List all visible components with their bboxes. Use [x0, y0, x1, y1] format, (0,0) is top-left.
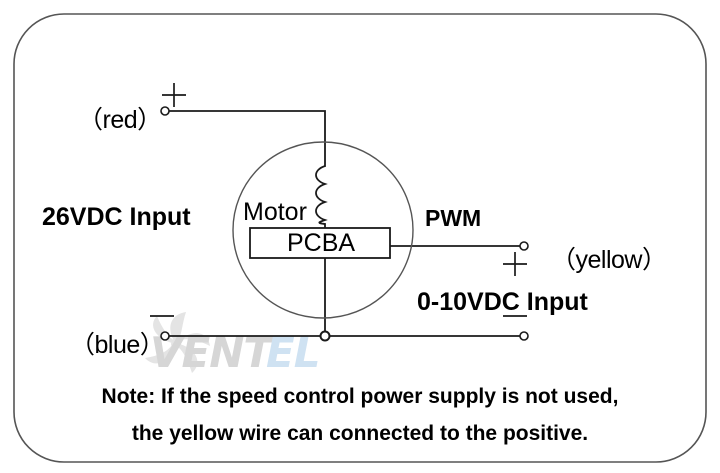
- terminal-red-positive: [161, 107, 169, 115]
- label-motor: Motor: [243, 200, 307, 225]
- terminal-yellow-negative: [520, 332, 528, 340]
- junction-dot: [321, 332, 330, 341]
- label-yellow-wire: （yellow）: [551, 248, 666, 273]
- label-pcba: PCBA: [287, 231, 355, 256]
- motor-coil-symbol: [316, 166, 325, 224]
- label-power-input: 26VDC Input: [42, 205, 191, 230]
- terminal-yellow-positive: [520, 242, 528, 250]
- label-blue-wire: （blue）: [70, 333, 164, 358]
- label-control-input: 0-10VDC Input: [417, 290, 588, 315]
- label-red-wire: （red）: [78, 108, 162, 133]
- label-pwm: PWM: [425, 207, 481, 230]
- wiring-diagram-canvas: VENT EL （red） 26VDC Input M: [0, 0, 720, 473]
- note-line-1: Note: If the speed control power supply …: [0, 386, 720, 407]
- note-line-2: the yellow wire can connected to the pos…: [0, 423, 720, 444]
- red-wire-path: [170, 111, 325, 166]
